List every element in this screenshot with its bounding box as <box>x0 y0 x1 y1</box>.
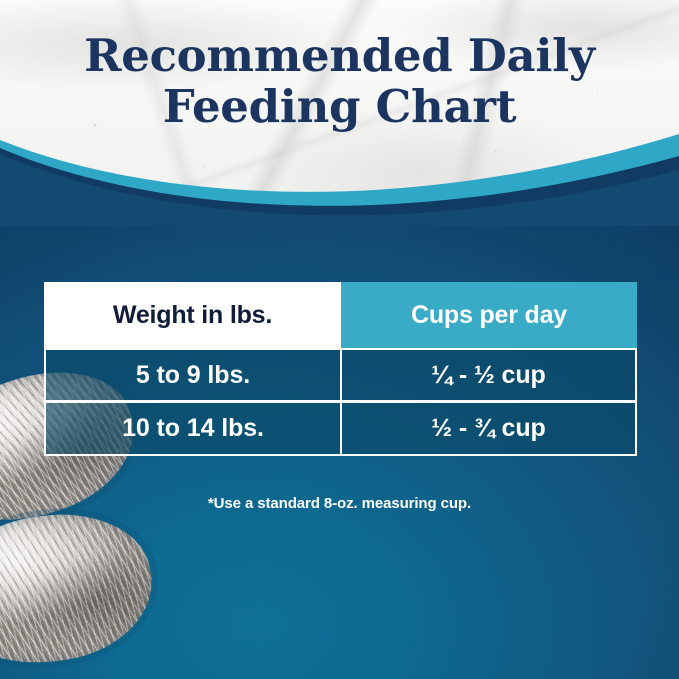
page-title-line-1: Recommended Daily <box>84 29 595 82</box>
cell-cups: ½ - ¾ cup <box>341 402 637 456</box>
header-band: Recommended Daily Feeding Chart <box>0 0 679 196</box>
column-header-weight: Weight in lbs. <box>44 282 341 348</box>
cell-weight: 10 to 14 lbs. <box>44 402 341 456</box>
table-row: 5 to 9 lbs. ¼ - ½ cup <box>44 348 637 402</box>
column-header-cups: Cups per day <box>341 282 637 348</box>
page-title-line-2: Feeding Chart <box>0 81 679 132</box>
cell-cups: ¼ - ½ cup <box>341 348 637 402</box>
page-title: Recommended Daily Feeding Chart <box>0 30 679 133</box>
feeding-chart-page: Recommended Daily Feeding Chart Weight i… <box>0 0 679 679</box>
table-row: 10 to 14 lbs. ½ - ¾ cup <box>44 402 637 456</box>
footnote: *Use a standard 8-oz. measuring cup. <box>0 495 679 512</box>
table-header-row: Weight in lbs. Cups per day <box>44 282 637 348</box>
feeding-table: Weight in lbs. Cups per day 5 to 9 lbs. … <box>44 282 637 456</box>
cell-weight: 5 to 9 lbs. <box>44 348 341 402</box>
